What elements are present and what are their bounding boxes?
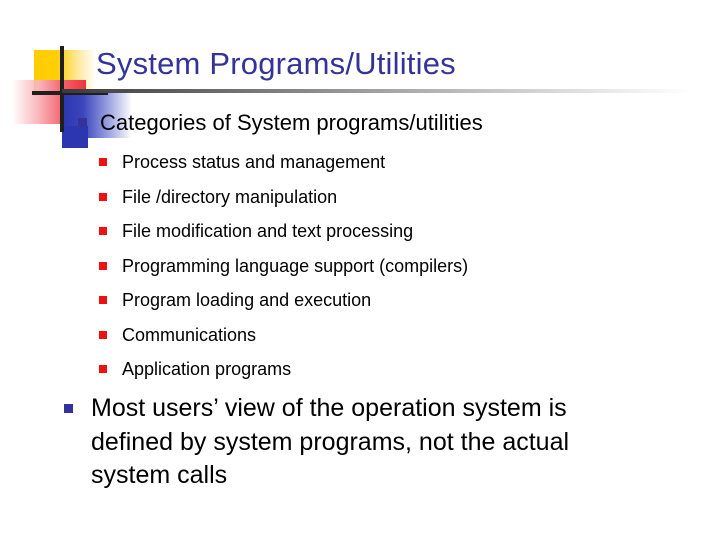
square-bullet-icon [99,296,107,304]
bullet-text: Categories of System programs/utilities [100,108,678,138]
sub-bullet-text: Program loading and execution [122,288,659,313]
square-bullet-icon [99,227,107,235]
square-bullet-icon [99,193,107,201]
square-bullet-icon [64,404,73,413]
presentation-slide: System Programs/Utilities Categories of … [0,0,720,540]
sub-bullet-text: File modification and text processing [122,219,659,244]
square-bullet-icon [78,118,87,127]
sub-bullet-item-5: Program loading and execution [99,288,659,313]
square-bullet-icon [99,365,107,373]
sub-bullet-item-6: Communications [99,323,659,348]
square-bullet-icon [99,331,107,339]
square-bullet-icon [99,262,107,270]
sub-bullet-item-4: Programming language support (compilers) [99,254,659,279]
square-bullet-icon [99,158,107,166]
sub-bullet-text: Communications [122,323,659,348]
sub-bullet-text: Application programs [122,357,659,382]
sub-bullet-item-7: Application programs [99,357,659,382]
bullet-item-categories: Categories of System programs/utilities [78,108,678,138]
sub-bullet-text: Programming language support (compilers) [122,254,659,279]
bullet-item-most-users: Most users’ view of the operation system… [64,392,664,493]
sub-bullet-item-3: File modification and text processing [99,219,659,244]
bullet-text: Most users’ view of the operation system… [91,392,651,493]
sub-bullet-text: File /directory manipulation [122,185,659,210]
sub-bullet-item-2: File /directory manipulation [99,185,659,210]
slide-body: Categories of System programs/utilities … [0,0,720,540]
sub-bullet-item-1: Process status and management [99,150,659,175]
sub-bullet-text: Process status and management [122,150,659,175]
